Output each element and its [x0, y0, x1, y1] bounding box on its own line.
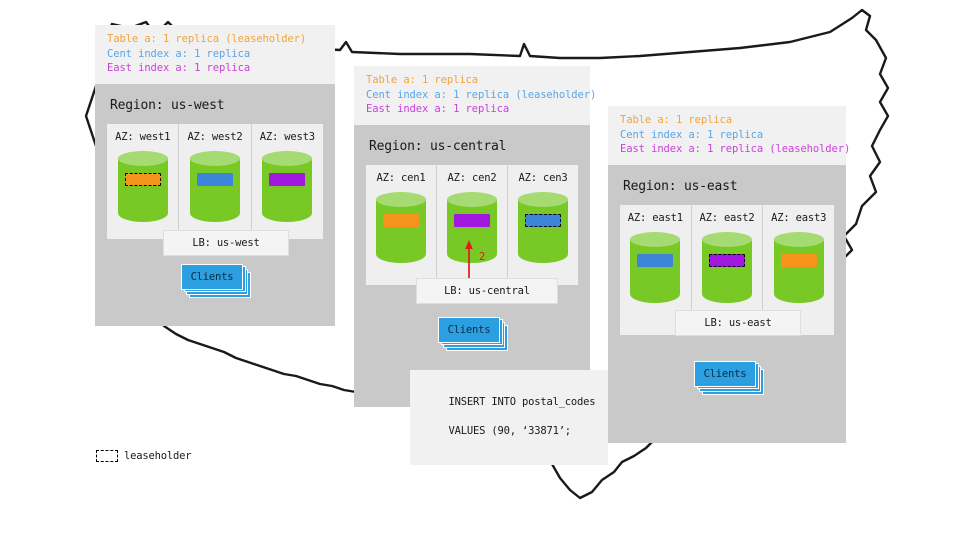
region-legend-us-central: Table a: 1 replica Cent index a: 1 repli… — [354, 66, 590, 125]
az-label-cen1: AZ: cen1 — [366, 172, 436, 184]
az-label-cen3: AZ: cen3 — [508, 172, 578, 184]
az-row-us-central: AZ: cen1 AZ: cen2 AZ: — [366, 165, 578, 285]
leaseholder-key-legend: leaseholder — [96, 450, 191, 462]
replica-bar-table-a — [781, 254, 817, 267]
region-body-us-central: Region: us-central AZ: cen1 AZ: cen2 — [354, 125, 590, 407]
cylinder-top — [190, 151, 240, 166]
cylinder-body — [447, 199, 497, 263]
arrow-step-number-2: 2 — [479, 251, 485, 263]
legend-line-table-a: Table a: 1 replica — [366, 73, 580, 88]
node-cylinder-west3[interactable] — [262, 151, 312, 229]
clients-label-us-west[interactable]: Clients — [181, 264, 243, 290]
sql-statement-box: INSERT INTO postal_codes VALUES (90, ‘33… — [410, 370, 608, 465]
region-title-us-west: Region: us-west — [110, 98, 323, 113]
node-cylinder-cen2[interactable] — [447, 192, 497, 270]
az-label-east3: AZ: east3 — [763, 212, 834, 224]
region-body-us-west: Region: us-west AZ: west1 AZ: west2 — [95, 84, 335, 326]
cylinder-body — [630, 239, 680, 303]
node-cylinder-west1[interactable] — [118, 151, 168, 229]
az-label-west1: AZ: west1 — [107, 131, 178, 143]
node-cylinder-east3[interactable] — [774, 232, 824, 310]
replica-bar-cent-index — [197, 173, 233, 186]
az-cell-west1[interactable]: AZ: west1 — [107, 124, 179, 239]
legend-line-east-index: East index a: 1 replica — [366, 102, 580, 117]
sql-line-1: INSERT INTO postal_codes — [449, 396, 596, 408]
replica-bar-table-a — [383, 214, 419, 227]
diagram-canvas: Table a: 1 replica (leaseholder) Cent in… — [0, 0, 960, 540]
cylinder-body — [774, 239, 824, 303]
region-panel-us-central: Table a: 1 replica Cent index a: 1 repli… — [354, 66, 590, 407]
clients-stack-us-central[interactable]: Clients — [438, 317, 500, 343]
region-body-us-east: Region: us-east AZ: east1 AZ: east2 — [608, 165, 846, 443]
cylinder-top — [376, 192, 426, 207]
clients-stack-us-west[interactable]: Clients — [181, 264, 243, 290]
az-cell-cen1[interactable]: AZ: cen1 — [366, 165, 437, 285]
region-panel-us-east: Table a: 1 replica Cent index a: 1 repli… — [608, 106, 846, 443]
replica-bar-cent-index — [637, 254, 673, 267]
az-cell-west3[interactable]: AZ: west3 — [252, 124, 323, 239]
region-panel-us-west: Table a: 1 replica (leaseholder) Cent in… — [95, 25, 335, 326]
region-title-us-central: Region: us-central — [369, 139, 578, 154]
cylinder-top — [630, 232, 680, 247]
replica-bar-cent-index-leaseholder — [525, 214, 561, 227]
cylinder-body — [262, 158, 312, 222]
cylinder-body — [518, 199, 568, 263]
node-cylinder-cen1[interactable] — [376, 192, 426, 270]
cylinder-body — [376, 199, 426, 263]
region-title-us-east: Region: us-east — [623, 179, 834, 194]
load-balancer-us-east[interactable]: LB: us-east — [675, 310, 801, 336]
cylinder-body — [190, 158, 240, 222]
lb-label-us-west: LB: us-west — [192, 237, 259, 249]
clients-label-us-east[interactable]: Clients — [694, 361, 756, 387]
legend-line-east-index: East index a: 1 replica (leaseholder) — [620, 142, 836, 157]
legend-line-table-a: Table a: 1 replica — [620, 113, 836, 128]
leaseholder-swatch-icon — [96, 450, 118, 462]
cylinder-top — [702, 232, 752, 247]
region-legend-us-east: Table a: 1 replica Cent index a: 1 repli… — [608, 106, 846, 165]
cylinder-top — [118, 151, 168, 166]
load-balancer-us-central[interactable]: LB: us-central — [416, 278, 558, 304]
sql-line-2: VALUES (90, ‘33871’; — [449, 425, 571, 437]
az-label-west2: AZ: west2 — [179, 131, 250, 143]
cylinder-top — [774, 232, 824, 247]
replica-bar-east-index — [454, 214, 490, 227]
replica-bar-east-index — [269, 173, 305, 186]
leaseholder-key-label: leaseholder — [124, 450, 191, 462]
cylinder-body — [702, 239, 752, 303]
clients-stack-us-east[interactable]: Clients — [694, 361, 756, 387]
region-legend-us-west: Table a: 1 replica (leaseholder) Cent in… — [95, 25, 335, 84]
cylinder-top — [447, 192, 497, 207]
legend-line-east-index: East index a: 1 replica — [107, 61, 325, 76]
az-row-us-west: AZ: west1 AZ: west2 AZ — [107, 124, 323, 239]
replica-bar-east-index-leaseholder — [709, 254, 745, 267]
az-label-east2: AZ: east2 — [692, 212, 763, 224]
lb-label-us-east: LB: us-east — [704, 317, 771, 329]
az-cell-west2[interactable]: AZ: west2 — [179, 124, 251, 239]
cylinder-top — [518, 192, 568, 207]
legend-line-cent-index: Cent index a: 1 replica — [620, 128, 836, 143]
legend-line-cent-index: Cent index a: 1 replica — [107, 47, 325, 62]
replica-bar-table-a-leaseholder — [125, 173, 161, 186]
load-balancer-us-west[interactable]: LB: us-west — [163, 230, 289, 256]
node-cylinder-cen3[interactable] — [518, 192, 568, 270]
node-cylinder-east2[interactable] — [702, 232, 752, 310]
legend-line-cent-index: Cent index a: 1 replica (leaseholder) — [366, 88, 580, 103]
node-cylinder-west2[interactable] — [190, 151, 240, 229]
node-cylinder-east1[interactable] — [630, 232, 680, 310]
az-label-cen2: AZ: cen2 — [437, 172, 507, 184]
cylinder-top — [262, 151, 312, 166]
lb-label-us-central: LB: us-central — [444, 285, 530, 297]
az-label-east1: AZ: east1 — [620, 212, 691, 224]
clients-label-us-central[interactable]: Clients — [438, 317, 500, 343]
az-cell-cen2[interactable]: AZ: cen2 — [437, 165, 508, 285]
az-cell-cen3[interactable]: AZ: cen3 — [508, 165, 578, 285]
az-label-west3: AZ: west3 — [252, 131, 323, 143]
cylinder-body — [118, 158, 168, 222]
legend-line-table-a: Table a: 1 replica (leaseholder) — [107, 32, 325, 47]
